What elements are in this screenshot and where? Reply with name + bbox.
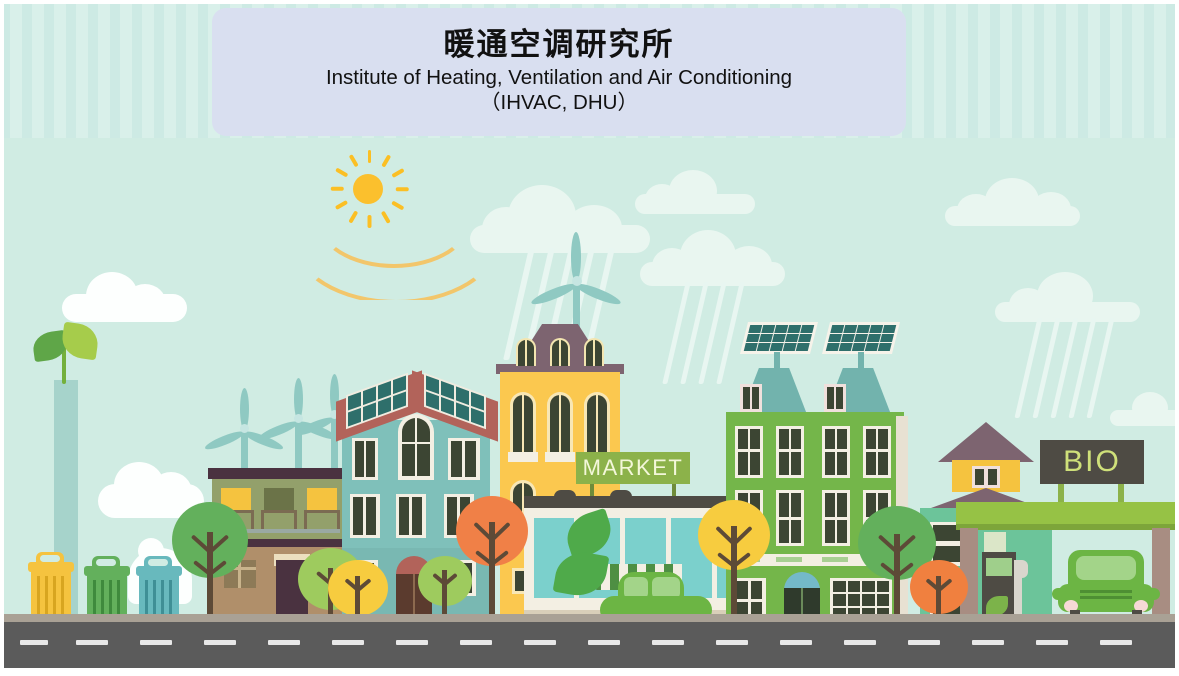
solar-panel-icon [822, 322, 900, 354]
sidewalk [0, 614, 1179, 622]
market-sign-label: MARKET [583, 455, 684, 481]
market-sign[interactable]: MARKET [576, 452, 690, 484]
title-chinese: 暖通空调研究所 [444, 28, 675, 63]
cloud-top-right [635, 170, 755, 214]
cloud-small-left [62, 270, 187, 320]
cloud-right-mid [995, 272, 1140, 322]
road [0, 622, 1179, 668]
green-car-icon [1054, 550, 1158, 622]
bin-green [82, 556, 132, 622]
slide-canvas: MARKET [0, 0, 1179, 676]
title-abbreviation: （IHVAC, DHU） [480, 90, 638, 116]
slide-bottom-margin [0, 668, 1179, 676]
bio-gas-station: BIO [962, 440, 1179, 622]
cloud-far-right [945, 178, 1080, 226]
bin-yellow [26, 552, 76, 622]
slide-right-margin [1175, 0, 1179, 676]
slide-left-margin [0, 0, 4, 676]
bio-sign-label: BIO [1063, 445, 1121, 479]
sprout-leaf-icon [32, 318, 102, 388]
bio-fuel-pump-icon [982, 552, 1032, 622]
title-banner: 暖通空调研究所 Institute of Heating, Ventilatio… [212, 8, 906, 136]
cloud-rain-right [640, 230, 785, 286]
bin-blue [134, 556, 184, 622]
title-english: Institute of Heating, Ventilation and Ai… [326, 65, 792, 91]
bio-sign[interactable]: BIO [1040, 440, 1144, 484]
cloud-mid-right-small [1110, 392, 1179, 426]
solar-panel-icon [740, 322, 818, 354]
